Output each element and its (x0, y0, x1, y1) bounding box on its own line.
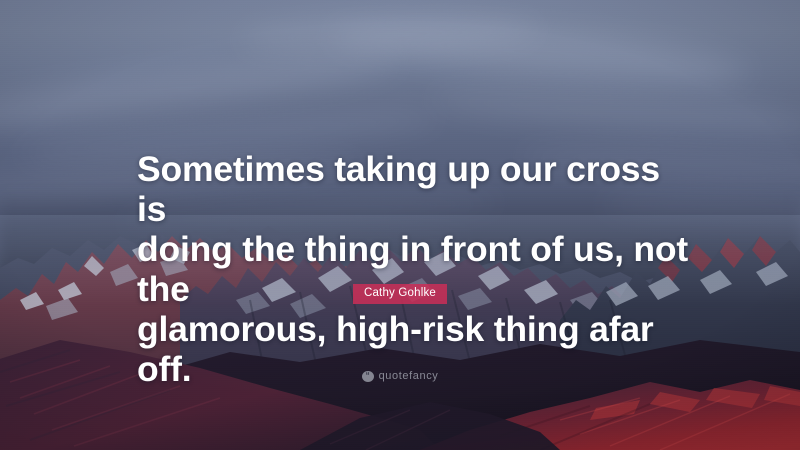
watermark-brand-text: quotefancy (379, 370, 439, 382)
quotefancy-logo-icon: “ (362, 371, 374, 382)
watermark: “ quotefancy (0, 365, 800, 383)
quote-wallpaper-image: Sometimes taking up our cross is doing t… (0, 0, 800, 450)
quote-line-1: Sometimes taking up our cross is (137, 149, 697, 229)
author-name-badge[interactable]: Cathy Gohlke (353, 284, 447, 304)
quote-text: Sometimes taking up our cross is doing t… (137, 149, 697, 389)
author-attribution: Cathy Gohlke (0, 283, 800, 304)
